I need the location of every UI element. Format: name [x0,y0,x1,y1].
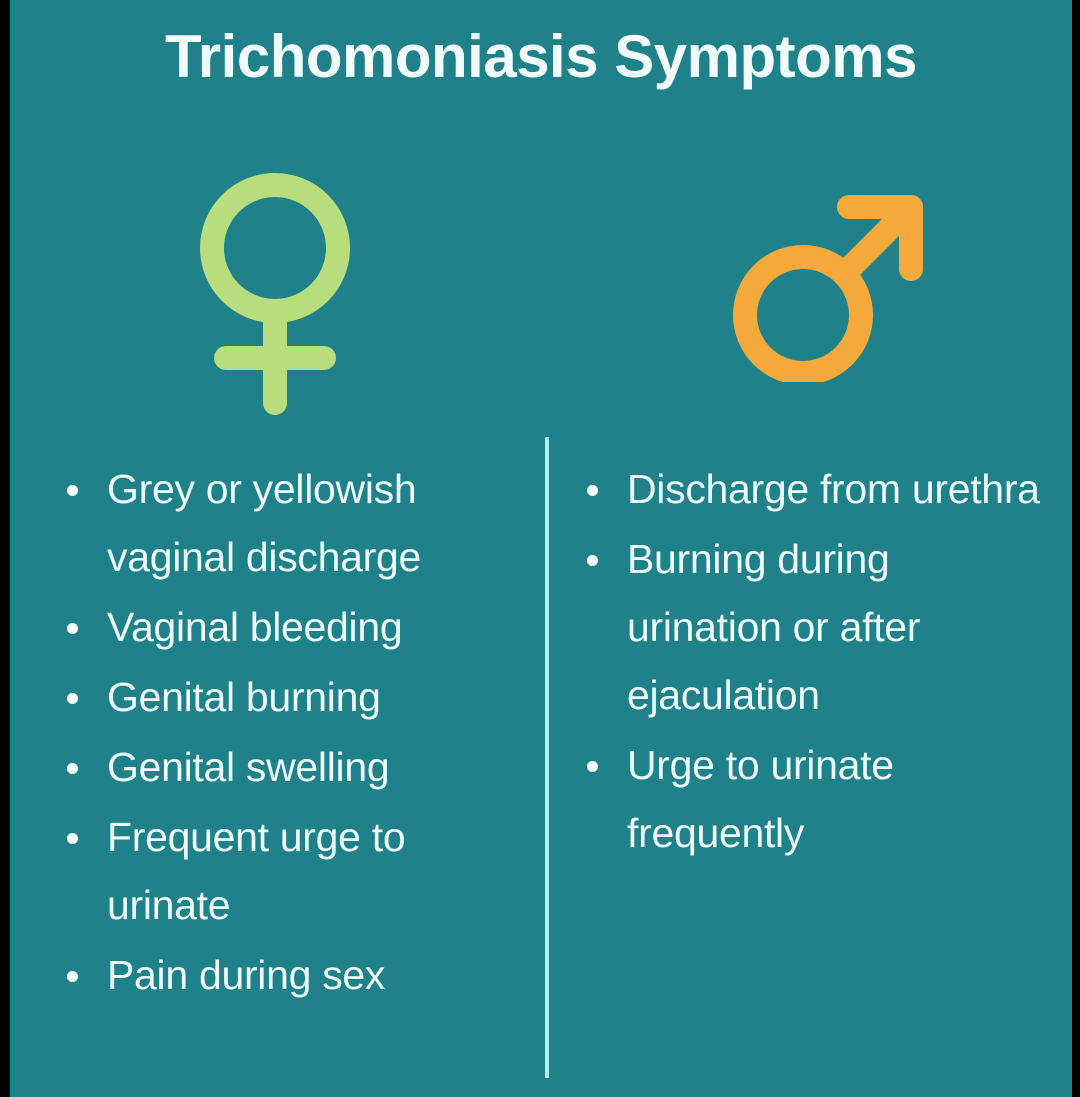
male-symptoms-column: Discharge from urethra Burning during ur… [572,455,1042,869]
bullet-icon [67,693,78,704]
list-item: Genital burning [52,663,522,731]
female-gender-symbol-icon [195,170,355,420]
infographic-card: Trichomoniasis Symptoms [0,0,1080,1097]
list-item-label: Grey or yellowish vaginal discharge [107,466,421,580]
list-item: Discharge from urethra [572,455,1042,523]
bullet-icon [67,833,78,844]
list-item: Frequent urge to urinate [52,803,522,939]
list-item: Grey or yellowish vaginal discharge [52,455,522,591]
female-symptoms-column: Grey or yellowish vaginal discharge Vagi… [52,455,522,1011]
list-item: Burning during urination or after ejacul… [572,525,1042,729]
list-item-label: Burning during urination or after ejacul… [627,536,920,718]
bullet-icon [67,971,78,982]
list-item-label: Urge to urinate frequently [627,742,894,856]
list-item-label: Pain during sex [107,952,385,998]
bullet-icon [587,485,598,496]
female-symptom-list: Grey or yellowish vaginal discharge Vagi… [52,455,522,1009]
list-item-label: Genital burning [107,674,381,720]
list-item: Genital swelling [52,733,522,801]
list-item: Vaginal bleeding [52,593,522,661]
list-item-label: Discharge from urethra [627,466,1040,512]
gender-symbols-row [10,160,1072,420]
list-item: Pain during sex [52,941,522,1009]
list-item: Urge to urinate frequently [572,731,1042,867]
male-symptom-list: Discharge from urethra Burning during ur… [572,455,1042,867]
list-item-label: Frequent urge to urinate [107,814,405,928]
bullet-icon [67,485,78,496]
column-divider [545,437,549,1078]
bullet-icon [587,555,598,566]
bullet-icon [67,763,78,774]
bullet-icon [587,761,598,772]
list-item-label: Genital swelling [107,744,389,790]
infographic-canvas: Trichomoniasis Symptoms [10,0,1072,1097]
list-item-label: Vaginal bleeding [107,604,402,650]
page-title: Trichomoniasis Symptoms [10,24,1072,90]
bullet-icon [67,623,78,634]
male-gender-symbol-icon [725,182,940,387]
